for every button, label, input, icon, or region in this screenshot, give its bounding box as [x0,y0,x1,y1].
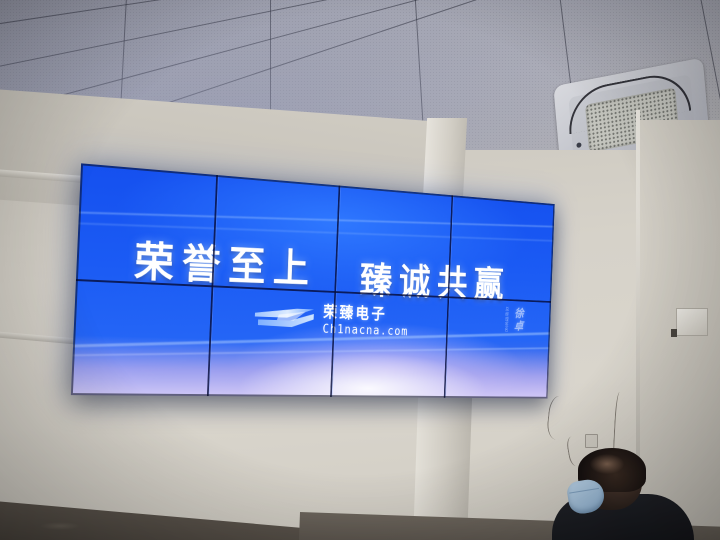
video-wall[interactable]: 荣誉至上 臻诚共赢 [71,163,555,398]
person-scalp-highlight [590,454,624,474]
wall-smudge [40,522,80,530]
chevron-swoosh-logo-icon [253,304,316,334]
side-signature: 徐卓 [510,307,524,333]
side-signature-block: 总经理签名 徐卓 [504,307,525,333]
slogan-row: 荣誉至上 臻诚共赢 [76,223,553,306]
side-caption: 总经理签名 [504,307,509,333]
photo-scene: 荣誉至上 臻诚共赢 [0,0,720,540]
wall-junction-box [676,308,708,336]
person [556,452,686,540]
wall-power-outlet [585,434,598,448]
ceiling-grid-line-h2 [0,0,720,39]
slogan-part-1: 荣誉至上 [133,228,317,295]
screen-content: 荣誉至上 臻诚共赢 [71,163,555,398]
